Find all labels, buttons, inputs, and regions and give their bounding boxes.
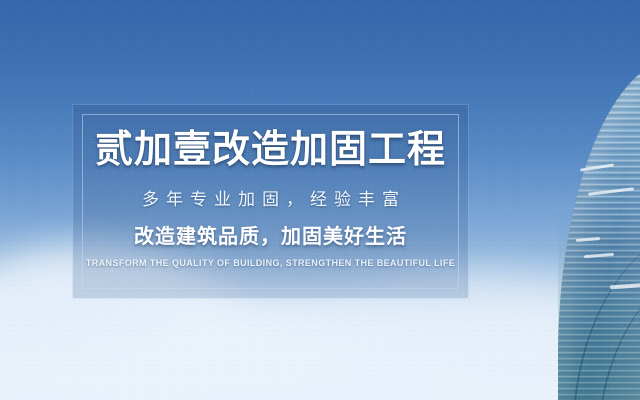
banner-tagline: 改造建筑品质，加固美好生活 [134,227,407,247]
skyscraper-body [558,58,640,400]
text-overlay-panel: 贰加壹改造加固工程 多年专业加固，经验丰富 改造建筑品质，加固美好生活 TRAN… [73,105,468,298]
banner-english-line: TRANSFORM THE QUALITY OF BUILDING, STREN… [86,259,455,268]
skyscraper-image [548,0,640,400]
banner-title: 贰加壹改造加固工程 [95,131,446,169]
banner-screenshot: 贰加壹改造加固工程 多年专业加固，经验丰富 改造建筑品质，加固美好生活 TRAN… [0,0,640,400]
banner-subtitle: 多年专业加固，经验丰富 [135,191,406,208]
banner-text-group: 贰加壹改造加固工程 多年专业加固，经验丰富 改造建筑品质，加固美好生活 TRAN… [73,105,468,298]
